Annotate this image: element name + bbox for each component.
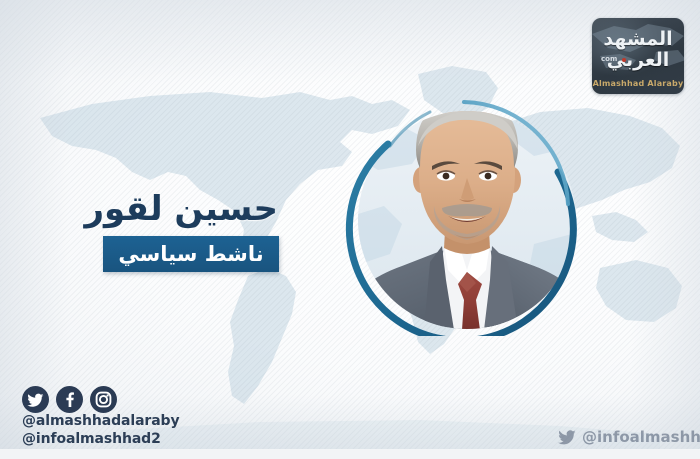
portrait <box>344 86 590 336</box>
logo-latin-text: Almashhad Alaraby <box>592 79 684 89</box>
handle-secondary: @infoalmashhad2 <box>22 430 180 448</box>
brand-logo[interactable]: المشهد العربي com Almashhad Alaraby <box>592 18 684 94</box>
person-name: حسين لقور <box>18 189 278 229</box>
logo-dot <box>622 58 626 62</box>
handle-primary: @almashhadalaraby <box>22 412 180 430</box>
role-label: ناشط سياسي <box>118 242 263 266</box>
social-icons <box>22 386 117 413</box>
corner-handle-text: @infoalmashhad2 <box>582 428 700 447</box>
instagram-icon[interactable] <box>90 386 117 413</box>
facebook-icon[interactable] <box>56 386 83 413</box>
corner-watermark-handle: @infoalmashhad2 <box>558 428 700 447</box>
bottom-strip <box>0 449 700 459</box>
twitter-icon[interactable] <box>22 386 49 413</box>
role-banner: ناشط سياسي <box>103 236 279 272</box>
logo-com-text: com <box>601 55 617 63</box>
social-handles: @almashhadalaraby @infoalmashhad2 <box>22 412 180 448</box>
promo-card: حسين لقور ناشط سياسي المشهد العربي com A… <box>0 0 700 459</box>
logo-arabic-line1: المشهد <box>592 30 684 49</box>
portrait-ring <box>344 86 590 336</box>
twitter-icon-small <box>558 430 576 445</box>
